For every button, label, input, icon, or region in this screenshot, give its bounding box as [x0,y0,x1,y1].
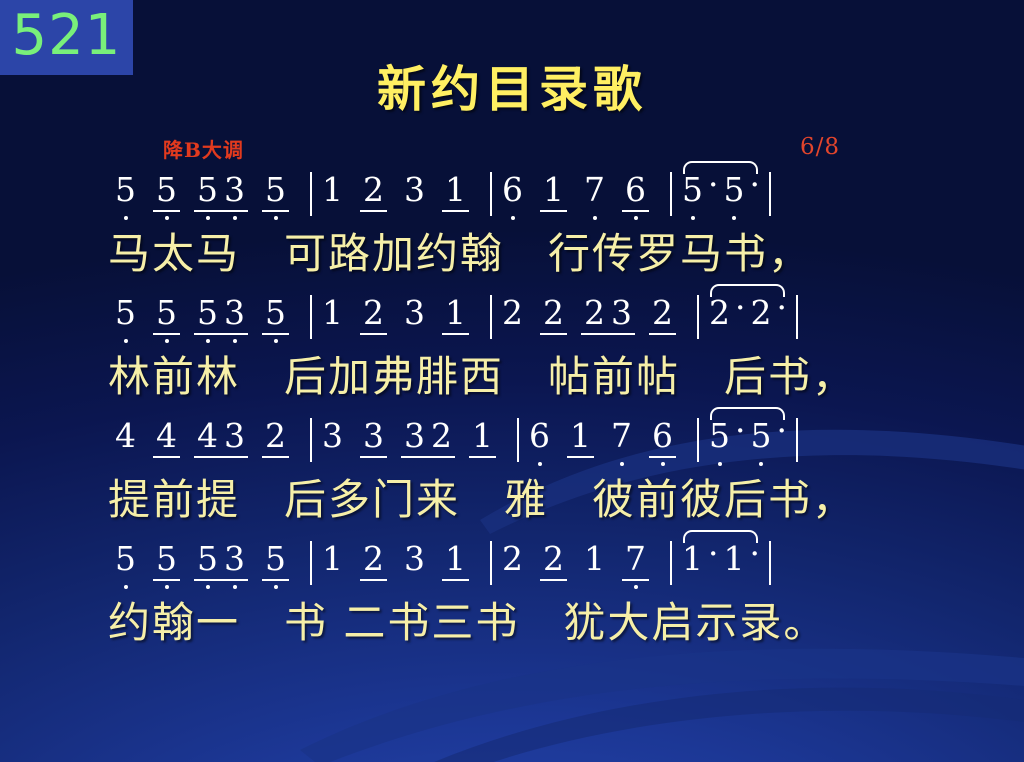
barline [517,418,519,462]
note-numeral: 5 [197,544,218,574]
beamed-note-group: 2 [360,170,387,214]
beamed-note-group: 1 [567,416,594,460]
beamed-note-group: 5 [153,170,180,214]
note: 5 [112,175,139,214]
beamed-note-group: 1 [442,539,469,583]
note: 5 [262,544,289,583]
note: 2 [262,421,289,460]
barline [490,295,492,339]
augmentation-dot: · [775,416,790,455]
barline [310,172,312,216]
note: 3 [401,175,428,214]
note-numeral: 6 [652,421,673,451]
augmentation-dot: · [733,293,748,332]
music-score: 55535123161765·5·马太马 可路加约翰 行传罗马书，5553512… [0,170,1024,662]
score-system: 555351231222322·2·林前林 后加弗腓西 帖前帖 后书， [0,293,1024,416]
notation-line: 55535123122171·1· [0,539,1024,595]
lyrics-line: 马太马 可路加约翰 行传罗马书， [0,226,1024,282]
measure: 33321 [319,416,510,460]
measure: 1231 [319,170,483,214]
note: 3 [221,421,248,460]
note-group: 1 [319,170,346,214]
note: 5 [153,175,180,214]
note: 3 [401,544,428,583]
note: 5 [194,544,221,583]
note-numeral: 1 [724,544,745,574]
barline [697,418,699,462]
barline-final [769,541,771,585]
beamed-note-group: 1 [469,416,496,460]
note: 6 [526,421,553,460]
score-system: 55535123161765·5·马太马 可路加约翰 行传罗马书， [0,170,1024,293]
note-numeral: 2 [543,298,564,328]
beamed-note-group: 2 [649,293,676,337]
note: 7 [608,421,635,460]
note-numeral: 2 [502,298,523,328]
note: 1 [442,544,469,583]
measure: 22232 [499,293,690,337]
barline [490,541,492,585]
augmentation-dot: · [733,416,748,455]
note-group: 1 [319,293,346,337]
note: 2 [649,298,676,337]
note: 5 [262,175,289,214]
note-group: 4 [112,416,139,460]
note-numeral: 6 [502,175,523,205]
note: 3 [401,421,428,460]
note-numeral: 3 [404,421,425,451]
note: 4 [112,421,139,460]
note: 2 [499,298,526,337]
note-numeral: 3 [363,421,384,451]
note: 5 [194,175,221,214]
note-numeral: 6 [529,421,550,451]
time-signature-label: 6/8 [800,134,840,160]
note: 5 [706,421,733,460]
note-numeral: 5 [115,298,136,328]
measure: 55535 [112,539,303,583]
note-numeral: 1 [682,544,703,574]
lyrics-line: 约翰一 书 二书三书 犹大启示录。 [0,595,1024,651]
beamed-note-group: 43 [194,416,248,460]
measure: 1231 [319,539,483,583]
notation-line: 555351231222322·2· [0,293,1024,349]
measure: 1·1· [679,539,762,583]
note-numeral: 5 [709,421,730,451]
note-numeral: 5 [115,544,136,574]
tied-note-pair: 5·5· [706,416,789,460]
note-numeral: 5 [751,421,772,451]
note: 1 [581,544,608,583]
note: 3 [221,298,248,337]
score-system: 444323332161765·5·提前提 后多门来 雅 彼前彼后书， [0,416,1024,539]
beamed-note-group: 2 [262,416,289,460]
note: 2 [360,544,387,583]
note-numeral: 3 [404,175,425,205]
note-numeral: 1 [472,421,493,451]
note-numeral: 1 [445,298,466,328]
note: 3 [360,421,387,460]
note: 6 [622,175,649,214]
beamed-note-group: 7 [622,539,649,583]
note: 1 [319,544,346,583]
note: 2 [581,298,608,337]
note: 3 [319,421,346,460]
note-numeral: 5 [724,175,745,205]
note-numeral: 7 [611,421,632,451]
measure: 1231 [319,293,483,337]
note: 5 [262,298,289,337]
barline [490,172,492,216]
tied-note-pair: 5·5· [679,170,762,214]
note: 1 [469,421,496,460]
note-numeral: 6 [625,175,646,205]
note-group: 1 [319,539,346,583]
note-group: 7 [581,170,608,214]
note-group: 7 [608,416,635,460]
note-numeral: 5 [265,175,286,205]
note: 5 [721,175,748,214]
note-group: 6 [526,416,553,460]
note: 1 [721,544,748,583]
note-numeral: 5 [265,544,286,574]
beamed-note-group: 1 [540,170,567,214]
beamed-note-group: 4 [153,416,180,460]
note-numeral: 7 [625,544,646,574]
measure: 2·2· [706,293,789,337]
note: 5 [112,298,139,337]
barline [310,418,312,462]
note-group: 5 [112,293,139,337]
barline [670,541,672,585]
note-group: 2 [499,539,526,583]
note-numeral: 5 [682,175,703,205]
note-numeral: 5 [156,175,177,205]
note: 2 [748,298,775,337]
note-group: 3 [401,293,428,337]
note-numeral: 4 [197,421,218,451]
note-numeral: 5 [115,175,136,205]
note-numeral: 2 [431,421,452,451]
note: 5 [112,544,139,583]
augmentation-dot: · [706,539,721,578]
note: 6 [499,175,526,214]
note-numeral: 1 [445,544,466,574]
barline [310,295,312,339]
barline [310,541,312,585]
note: 2 [706,298,733,337]
note-numeral: 2 [652,298,673,328]
note-group: 2 [499,293,526,337]
beamed-note-group: 2 [540,293,567,337]
note-numeral: 1 [543,175,564,205]
note-numeral: 1 [445,175,466,205]
score-system: 55535123122171·1·约翰一 书 二书三书 犹大启示录。 [0,539,1024,662]
note-numeral: 5 [197,298,218,328]
note-numeral: 1 [584,544,605,574]
note: 3 [608,298,635,337]
barline-final [796,295,798,339]
note: 2 [360,175,387,214]
beamed-note-group: 5 [262,539,289,583]
note-group: 1 [581,539,608,583]
beamed-note-group: 6 [649,416,676,460]
note-numeral: 1 [322,298,343,328]
note-numeral: 1 [570,421,591,451]
note-group: 3 [319,416,346,460]
note-numeral: 3 [611,298,632,328]
beamed-note-group: 2 [360,293,387,337]
note: 3 [221,544,248,583]
lyrics-line: 林前林 后加弗腓西 帖前帖 后书， [0,349,1024,405]
measure: 55535 [112,170,303,214]
note: 3 [401,298,428,337]
note: 1 [567,421,594,460]
measure: 6176 [499,170,663,214]
note: 2 [360,298,387,337]
barline [670,172,672,216]
tied-note-pair: 1·1· [679,539,762,583]
beamed-note-group: 2 [540,539,567,583]
measure: 2217 [499,539,663,583]
note: 4 [153,421,180,460]
note-numeral: 3 [224,421,245,451]
note: 1 [540,175,567,214]
note-numeral: 5 [197,175,218,205]
barline-final [769,172,771,216]
note: 1 [679,544,706,583]
beamed-note-group: 6 [622,170,649,214]
beamed-note-group: 32 [401,416,455,460]
note-numeral: 1 [322,175,343,205]
beamed-note-group: 5 [153,293,180,337]
note-numeral: 5 [156,544,177,574]
measure: 5·5· [706,416,789,460]
note-numeral: 2 [363,298,384,328]
note: 2 [540,298,567,337]
note-numeral: 2 [363,175,384,205]
beamed-note-group: 23 [581,293,635,337]
note: 1 [442,298,469,337]
note: 7 [622,544,649,583]
note-group: 3 [401,539,428,583]
beamed-note-group: 2 [360,539,387,583]
note: 3 [221,175,248,214]
note: 2 [499,544,526,583]
notation-line: 55535123161765·5· [0,170,1024,226]
note: 1 [319,175,346,214]
note: 2 [540,544,567,583]
note-group: 5 [112,170,139,214]
page-title: 新约目录歌 [0,50,1024,121]
note: 4 [194,421,221,460]
beamed-note-group: 53 [194,539,248,583]
note: 5 [194,298,221,337]
augmentation-dot: · [775,293,790,332]
measure: 44432 [112,416,303,460]
augmentation-dot: · [748,170,763,209]
slide-canvas: 521 新约目录歌 降B大调 6/8 55535123161765·5·马太马 … [0,0,1024,762]
note: 5 [153,298,180,337]
note-numeral: 2 [709,298,730,328]
augmentation-dot: · [706,170,721,209]
notation-line: 444323332161765·5· [0,416,1024,472]
note-group: 5 [112,539,139,583]
beamed-note-group: 53 [194,293,248,337]
key-signature-label: 降B大调 [163,134,244,163]
note-group: 3 [401,170,428,214]
beamed-note-group: 1 [442,170,469,214]
note-numeral: 2 [543,544,564,574]
note-numeral: 2 [502,544,523,574]
barline-final [796,418,798,462]
note-numeral: 5 [265,298,286,328]
note-numeral: 2 [265,421,286,451]
measure: 6176 [526,416,690,460]
beamed-note-group: 5 [262,293,289,337]
tied-note-pair: 2·2· [706,293,789,337]
barline [697,295,699,339]
note-numeral: 7 [584,175,605,205]
note-numeral: 4 [156,421,177,451]
beamed-note-group: 1 [442,293,469,337]
beamed-note-group: 5 [153,539,180,583]
note: 5 [748,421,775,460]
lyrics-line: 提前提 后多门来 雅 彼前彼后书， [0,472,1024,528]
note: 6 [649,421,676,460]
note-numeral: 3 [322,421,343,451]
note: 5 [679,175,706,214]
note-numeral: 3 [224,175,245,205]
note-numeral: 2 [363,544,384,574]
note-numeral: 1 [322,544,343,574]
note-numeral: 5 [156,298,177,328]
note: 2 [428,421,455,460]
note-numeral: 3 [224,544,245,574]
note-numeral: 3 [404,544,425,574]
note: 1 [442,175,469,214]
beamed-note-group: 5 [262,170,289,214]
note: 7 [581,175,608,214]
note-group: 6 [499,170,526,214]
note-numeral: 4 [115,421,136,451]
measure: 5·5· [679,170,762,214]
note-numeral: 2 [584,298,605,328]
beamed-note-group: 3 [360,416,387,460]
beamed-note-group: 53 [194,170,248,214]
note: 5 [153,544,180,583]
augmentation-dot: · [748,539,763,578]
note-numeral: 3 [224,298,245,328]
note-numeral: 3 [404,298,425,328]
note: 1 [319,298,346,337]
note-numeral: 2 [751,298,772,328]
measure: 55535 [112,293,303,337]
